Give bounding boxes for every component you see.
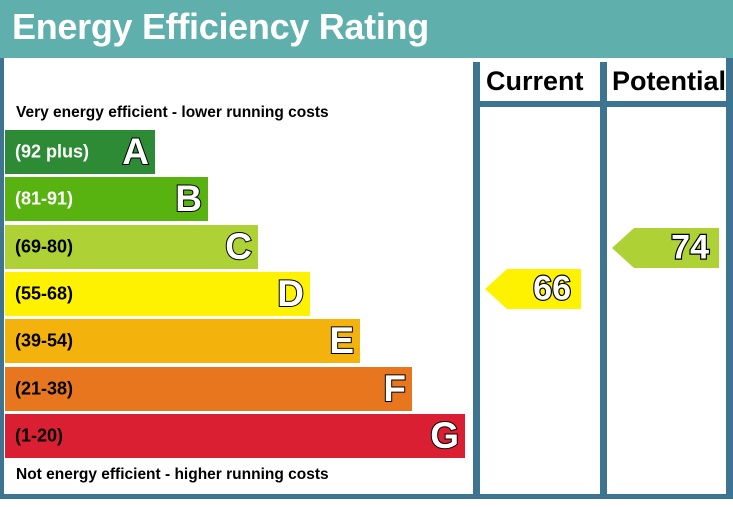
rating-band-range-c: (69-80) (15, 236, 73, 257)
rating-band-range-b: (81-91) (15, 189, 73, 210)
rating-value-current: 66 (533, 271, 571, 305)
rating-band-letter-a: A (122, 133, 149, 170)
caption-very-efficient: Very energy efficient - lower running co… (16, 104, 329, 122)
rating-band-letter-f: F (383, 369, 406, 406)
column-header-potential: Potential (612, 66, 726, 97)
rating-band-range-f: (21-38) (15, 378, 73, 399)
column-divider-current (473, 62, 480, 494)
rating-indicator-potential: 74 (612, 228, 719, 268)
frame-bottom-rule (0, 494, 733, 499)
rating-band-letter-g: G (430, 417, 459, 454)
energy-efficiency-rating-chart: Energy Efficiency Rating Current Potenti… (0, 0, 733, 507)
frame-left-rule (0, 58, 4, 498)
page-title: Energy Efficiency Rating (12, 6, 429, 48)
rating-band-b: (81-91)B (5, 177, 208, 221)
rating-band-range-g: (1-20) (15, 425, 63, 446)
rating-band-e: (39-54)E (5, 319, 360, 363)
frame-right-rule (726, 58, 733, 499)
rating-band-d: (55-68)D (5, 272, 310, 316)
rating-band-letter-e: E (329, 322, 354, 359)
caption-not-efficient: Not energy efficient - higher running co… (16, 466, 329, 484)
column-header-underline (473, 101, 726, 107)
rating-band-a: (92 plus)A (5, 130, 155, 174)
rating-indicator-current: 66 (485, 269, 581, 309)
rating-band-range-a: (92 plus) (15, 142, 89, 163)
column-header-current: Current (486, 66, 584, 97)
rating-value-potential: 74 (671, 230, 709, 264)
rating-band-g: (1-20)G (5, 414, 465, 458)
chart-title-band: Energy Efficiency Rating (0, 0, 733, 58)
rating-band-range-d: (55-68) (15, 283, 73, 304)
rating-band-letter-b: B (175, 180, 202, 217)
rating-band-range-e: (39-54) (15, 331, 73, 352)
rating-band-letter-c: C (225, 227, 252, 264)
rating-band-letter-d: D (277, 275, 304, 312)
rating-band-c: (69-80)C (5, 225, 258, 269)
column-divider-potential (600, 62, 607, 494)
rating-band-f: (21-38)F (5, 367, 412, 411)
